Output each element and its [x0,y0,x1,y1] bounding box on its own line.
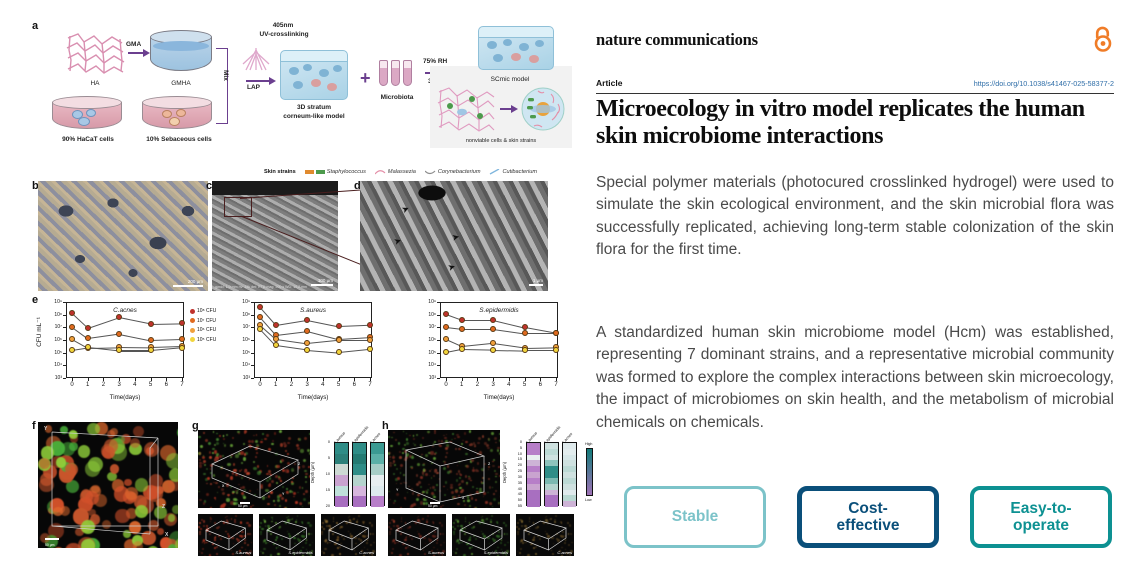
legend-swatch-staphylococcus-2 [316,170,325,174]
chart-y-tickmark [63,378,66,379]
chart-y-tick: 10⁶ [410,337,436,343]
chart-c-acnes: C.acnesCFU mL⁻¹Time(days)10⁹10⁸10⁷10⁶10⁵… [38,298,188,410]
chart-line-segment [493,350,524,352]
panel-g-confocal: Z Y X 50 μm S.aureusS.epidermidisC.acnes… [198,422,376,558]
chart-data-point [367,346,373,352]
chart-x-tickmark [166,378,167,381]
arrow-label-lap: LAP [247,84,260,91]
legend-swatch-corynebacterium [425,169,436,175]
mini-cube-1: S.epidermidis [452,514,510,556]
heatmap-depth-tick: 15 [510,457,522,461]
heatmap-cell [371,486,384,497]
header-divider [596,93,1114,94]
chart-y-tickmark [251,353,254,354]
chart-x-tick: 6 [539,382,542,388]
chart-y-tickmark [251,378,254,379]
chart-x-tick: 7 [180,382,183,388]
chart-y-tick: 10⁵ [410,350,436,356]
panel-d-arrow-2: ➤ [393,236,403,247]
chart-data-point [257,314,263,320]
chart-data-point [69,336,75,342]
chart-x-tick: 1 [460,382,463,388]
legend-item-staphylococcus: Staphylococcus [305,169,366,175]
panel-h-confocal: Z Y X 50 μm S.aureusS.epidermidisC.acnes… [388,422,574,558]
arrow-gma [128,52,144,54]
panel-g-axis-y: Y [282,492,284,496]
chart-x-axis-label: Time(days) [440,394,558,401]
chart-x-tickmark [354,378,355,381]
heatmap-cell [335,454,348,465]
heatmap-depth-tick: 40 [510,487,522,491]
panel-h-mini-cubes: S.aureusS.epidermidisC.acnes [388,514,574,558]
heatmap-column [562,442,577,506]
panel-a-caption-sebaceous: 10% Sebaceous cells [134,136,224,143]
plus-sign: + [360,68,371,89]
panel-e-charts: e C.acnesCFU mL⁻¹Time(days)10⁹10⁸10⁷10⁶1… [30,294,575,414]
chart-x-tickmark [151,378,152,381]
chart-legend-label: 10⁵ CFU [197,337,216,343]
chart-data-point [273,336,279,342]
chart-y-tickmark [437,365,440,366]
mini-cube-label: S.aureus [235,550,251,555]
chart-line-segment [525,350,556,351]
chart-line-segment [462,320,493,321]
heatmap-cell [335,464,348,475]
panel-f-axis-y: Y [44,426,47,432]
journal-figure: a HA GMA [30,18,575,553]
heatmap-cell [545,501,558,507]
chart-y-tick: 10⁶ [224,337,250,343]
chart-data-point [459,317,465,323]
arrow-callout [500,108,512,110]
heatmap-cell [563,501,576,507]
chart-y-tickmark [63,340,66,341]
heatmap-cell [371,464,384,475]
sebaceous-dish-icon [142,96,212,132]
chart-legend-item: 10⁷ CFU [190,318,216,324]
arrow-lap [246,80,270,82]
badge-stable[interactable]: Stable [624,486,766,548]
chart-y-tick: 10³ [36,375,62,381]
mini-cube-2: C.acnes [516,514,574,556]
panel-a-caption-model-line1: 3D stratum [268,104,360,111]
mini-cube-0: S.aureus [388,514,446,556]
chart-data-point [336,349,342,355]
chart-x-tick: 5 [523,382,526,388]
chart-data-point [179,320,185,326]
badge-easy-to-operate[interactable]: Easy-to-operate [970,486,1112,548]
panel-f-scalebar [45,538,59,540]
chart-x-tick: 0 [70,382,73,388]
chart-x-tick: 3 [305,382,308,388]
open-access-lock-icon [1092,26,1114,52]
heatmap-cell [353,464,366,475]
mini-cube-0: S.aureus [198,514,253,556]
uv-light-icon [242,46,270,72]
panel-a-caption-scmic: SCmic model [460,76,560,83]
panel-h-image [388,430,500,508]
chart-y-tickmark [437,378,440,379]
chart-y-tickmark [437,340,440,341]
panel-h-axis-y: Y [396,488,398,492]
heatmap-column [526,442,541,506]
article-meta-row: Article https://doi.org/10.1038/s41467-0… [596,78,1114,94]
microbiota-tube-1 [379,60,388,86]
heatmap-column [334,442,349,506]
chart-legend-item: 10⁸ CFU [190,308,216,314]
chart-data-point [553,347,559,353]
chart-title: S.epidermidis [440,307,558,314]
confocal-wireframe [38,422,178,548]
chart-x-tick: 5 [149,382,152,388]
chart-x-tickmark [72,378,73,381]
chart-data-point [367,322,373,328]
panel-f-axis-x: X [165,532,168,538]
chart-y-tickmark [63,315,66,316]
heatmap-depth-tick: 55 [510,504,522,508]
chart-y-tick: 10⁴ [36,362,62,368]
panel-d-arrow-1: ➤ [400,204,411,215]
chart-y-tick: 10⁴ [224,362,250,368]
heatmap-column [544,442,559,506]
chart-x-tick: 1 [274,382,277,388]
panel-f-image [38,422,178,548]
chart-line-segment [525,347,556,349]
chart-data-point [179,345,185,351]
heatmap-cell [371,475,384,486]
chart-x-axis-label: Time(days) [66,394,184,401]
chart-y-tickmark [63,327,66,328]
mini-cube-label: C.acnes [557,550,572,555]
chart-data-point [336,337,342,343]
chart-data-point [522,330,528,336]
chart-legend-label: 10⁶ CFU [197,327,216,333]
chart-data-point [304,340,310,346]
uv-label-line2: UV-crosslinking [238,31,330,38]
chart-x-tickmark [509,378,510,381]
chart-x-tickmark [307,378,308,381]
chart-x-tick: 7 [368,382,371,388]
legend-item-malassezia: Malassezia [375,169,416,175]
chart-s-epidermidis: S.epidermidisTime(days)10⁹10⁸10⁷10⁶10⁵10… [412,298,562,410]
chart-legend-item: 10⁶ CFU [190,327,216,333]
panel-a-legend: Skin strains Staphylococcus Malassezia C… [264,166,574,177]
panel-h-heatmap: S.aureusS.epidermidisC.acnes051015202530… [508,428,570,512]
microbiota-tube-2 [391,60,400,86]
chart-x-tickmark [446,378,447,381]
chart-data-point [116,314,122,320]
chart-y-tick: 10⁵ [36,350,62,356]
uv-label-line1: 405nm [248,22,318,29]
mini-cube-label: S.epidermidis [484,550,508,555]
chart-data-point [85,325,91,331]
heatmap-depth-tick: 5 [318,456,330,460]
chart-x-tickmark [525,378,526,381]
legend-item-cutibacterium: Cutibacterium [489,169,537,175]
panel-a-schematic: a HA GMA [30,18,575,156]
article-panel: nature communications Article https://do… [596,0,1142,571]
chart-x-tickmark [119,378,120,381]
heatmap-depth-tick: 10 [510,452,522,456]
panel-a-caption-gmha: GMHA [148,80,214,87]
ha-polymer-network-icon [64,30,126,76]
heatmap-cell [335,486,348,497]
chart-y-tickmark [437,327,440,328]
mini-cube-label: C.acnes [359,550,374,555]
chart-data-point [367,337,373,343]
mini-cube-1: S.epidermidis [259,514,314,556]
chart-y-tickmark [251,302,254,303]
chart-data-point [490,340,496,346]
chart-x-tickmark [556,378,557,381]
chart-y-tick: 10⁷ [36,324,62,330]
heatmap-cell [353,486,366,497]
chart-data-point [273,342,279,348]
chart-y-tick: 10⁹ [410,299,436,305]
chart-x-tick: 4 [133,382,136,388]
chart-x-tick: 1 [86,382,89,388]
chart-x-tick: 6 [353,382,356,388]
chart-data-point [257,304,263,310]
scmic-model-icon [478,32,554,70]
legend-label-cutibacterium: Cutibacterium [502,169,537,175]
chart-x-tick: 2 [290,382,293,388]
panel-d-sem-image: ➤ ➤ ➤ ➤ 1 μm [360,181,548,291]
microbiome-sphere-icon [518,84,568,134]
panel-a-caption-model-line2: corneum-like model [266,113,362,120]
panel-h-axis-z: Z [488,462,490,466]
chart-y-tick: 10⁷ [224,324,250,330]
panel-a-caption-microbiota: Microbiota [373,94,421,101]
chart-data-point [443,336,449,342]
chart-y-tickmark [63,302,66,303]
chart-data-point [443,349,449,355]
heatmap-depth-axis-label: Depth (μm) [310,462,315,483]
heatmap-cell [335,475,348,486]
chart-x-tickmark [260,378,261,381]
heatmap-colorbar [586,448,593,496]
chart-x-axis-label: Time(days) [254,394,372,401]
heatmap-depth-tick: 30 [510,475,522,479]
heatmap-depth-tick: 50 [510,498,522,502]
panel-b-scale-label: 200 μm [188,279,203,284]
chart-legend-label: 10⁷ CFU [197,318,216,324]
panel-c-inset-box [224,197,252,217]
chart-legend-swatch [190,337,195,342]
chart-x-tickmark [88,378,89,381]
heatmap-depth-tick: 0 [318,440,330,444]
chart-x-tick: 4 [321,382,324,388]
panel-a-caption-nonviable: nonviable cells & skin strains [432,138,570,144]
chart-y-tick: 10³ [224,375,250,381]
badge-cost-effective-label: Cost-effective [837,500,900,535]
panel-g-axis-z: Z [298,462,300,466]
chart-x-tickmark [339,378,340,381]
mix-bracket [216,48,228,124]
heatmap-colorbar-low: Low [585,498,592,502]
panel-c-metadata: gwdd: 1.0 mm hv: 15k det: ETD mag: 500 x… [215,285,307,289]
panel-a-caption-ha: HA [64,80,126,87]
chart-x-tickmark [370,378,371,381]
heatmap-depth-tick: 25 [510,469,522,473]
arrow-label-rh: 75% RH [423,58,447,65]
panel-f-axis-z: Z [162,504,165,510]
chart-data-point [116,347,122,353]
chart-data-point [116,331,122,337]
chart-data-point [69,324,75,330]
mini-cube-2: C.acnes [321,514,376,556]
hydrogel-network-detail-icon [436,86,496,134]
heatmap-cell [371,454,384,465]
chart-legend-swatch [190,309,195,314]
journal-name: nature communications [596,30,758,50]
chart-data-point [459,326,465,332]
legend-item-corynebacterium: Corynebacterium [425,169,481,175]
heatmap-cell [353,496,366,507]
chart-y-tick: 10⁴ [410,362,436,368]
chart-x-tick: 6 [165,382,168,388]
chart-y-tickmark [437,315,440,316]
chart-y-tickmark [251,340,254,341]
stratum-corneum-model-icon [280,56,348,100]
chart-y-tickmark [437,353,440,354]
hacat-dish-icon [52,96,122,132]
chart-x-tick: 2 [476,382,479,388]
panel-g-image [198,430,310,508]
chart-line-segment [151,323,182,325]
chart-data-point [273,322,279,328]
chart-data-point [69,347,75,353]
feature-badges: Stable Cost-effective Easy-to-operate [624,486,1114,550]
heatmap-column [370,442,385,506]
chart-x-tick: 3 [117,382,120,388]
arrow-label-gma: GMA [126,41,141,48]
chart-y-tickmark [63,353,66,354]
chart-y-tickmark [251,365,254,366]
panel-g-mini-cubes: S.aureusS.epidermidisC.acnes [198,514,376,558]
heatmap-cell [335,496,348,507]
chart-x-tick: 0 [444,382,447,388]
heatmap-depth-tick: 20 [318,504,330,508]
arrow-label-mix: Mix [222,70,229,81]
chart-x-tickmark [291,378,292,381]
chart-data-point [553,330,559,336]
panel-g-heatmap: S.aureusS.epidermidisC.acnes05101520Dept… [316,428,376,510]
chart-line-segment [119,350,150,351]
chart-x-tick: 4 [507,382,510,388]
panel-d-scalebar [529,284,543,286]
chart-y-tickmark [63,365,66,366]
mini-cube-label: S.aureus [428,550,444,555]
panel-a-caption-hacat: 90% HaCaT cells [44,136,132,143]
panel-c-scalebar [311,284,333,286]
heatmap-depth-tick: 20 [510,463,522,467]
chart-legend-swatch [190,318,195,323]
legend-swatch-malassezia [375,169,386,175]
panel-b-scalebar [173,285,203,287]
legend-title: Skin strains [264,169,296,175]
chart-title: C.acnes [66,307,184,314]
chart-y-tickmark [251,327,254,328]
panel-f-scale-label: 50 μm [45,543,55,547]
chart-legend-swatch [190,328,195,333]
heatmap-cell [527,501,540,507]
chart-data-point [443,324,449,330]
chart-data-point [490,317,496,323]
heatmap-cell [335,443,348,454]
chart-y-tick: 10⁷ [410,324,436,330]
chart-legend: 10⁸ CFU10⁷ CFU10⁶ CFU10⁵ CFU [190,308,216,346]
chart-y-tick: 10⁹ [224,299,250,305]
legend-label-staphylococcus: Staphylococcus [327,169,366,175]
badge-stable-label: Stable [672,508,719,525]
badge-easy-to-operate-label: Easy-to-operate [1010,500,1071,535]
chart-line-segment [462,329,493,330]
chart-x-tickmark [103,378,104,381]
chart-data-point [257,326,263,332]
chart-x-tickmark [477,378,478,381]
chart-x-tick: 7 [554,382,557,388]
chart-x-tickmark [182,378,183,381]
panel-h-axis-x: X [462,496,464,500]
mini-cube-label: S.epidermidis [288,550,312,555]
chart-title: S.aureus [254,307,372,314]
chart-y-tick: 10³ [410,375,436,381]
panel-b-sem-image: 200 μm [38,181,208,291]
abstract-paragraph-2: A standardized human skin microbiome mod… [596,322,1114,434]
gmha-dish-icon [150,30,212,76]
legend-swatch-cutibacterium [489,169,500,175]
chart-data-point [304,317,310,323]
doi-link[interactable]: https://doi.org/10.1038/s41467-025-58377… [974,79,1114,88]
chart-x-tickmark [276,378,277,381]
heatmap-depth-axis-label: Depth (μm) [502,462,507,483]
chart-data-point [522,347,528,353]
heatmap-cell [353,475,366,486]
panel-c-sem-image: gwdd: 1.0 mm hv: 15k det: ETD mag: 500 x… [212,181,338,291]
chart-data-point [490,326,496,332]
chart-line-segment [525,333,556,334]
chart-data-point [336,323,342,329]
legend-label-malassezia: Malassezia [388,169,416,175]
chart-data-point [304,328,310,334]
heatmap-cell [353,443,366,454]
heatmap-column [352,442,367,506]
panel-g-scale-label: 50 μm [238,504,248,508]
heatmap-depth-tick: 45 [510,492,522,496]
chart-data-point [443,311,449,317]
chart-y-tick: 10⁸ [410,312,436,318]
heatmap-depth-tick: 0 [510,440,522,444]
abstract-paragraph-1: Special polymer materials (photocured cr… [596,172,1114,262]
chart-data-point [459,346,465,352]
badge-cost-effective[interactable]: Cost-effective [797,486,939,548]
chart-data-point [148,321,154,327]
chart-data-point [85,335,91,341]
chart-data-point [85,344,91,350]
legend-label-corynebacterium: Corynebacterium [438,169,481,175]
heatmap-depth-tick: 15 [318,488,330,492]
heatmap-cell [371,496,384,507]
chart-x-tickmark [493,378,494,381]
heatmap-depth-tick: 5 [510,446,522,450]
chart-y-tick: 10⁸ [224,312,250,318]
confocal-wireframe [388,430,500,508]
chart-data-point [179,336,185,342]
chart-x-tickmark [462,378,463,381]
heatmap-depth-tick: 10 [318,472,330,476]
chart-x-tickmark [135,378,136,381]
